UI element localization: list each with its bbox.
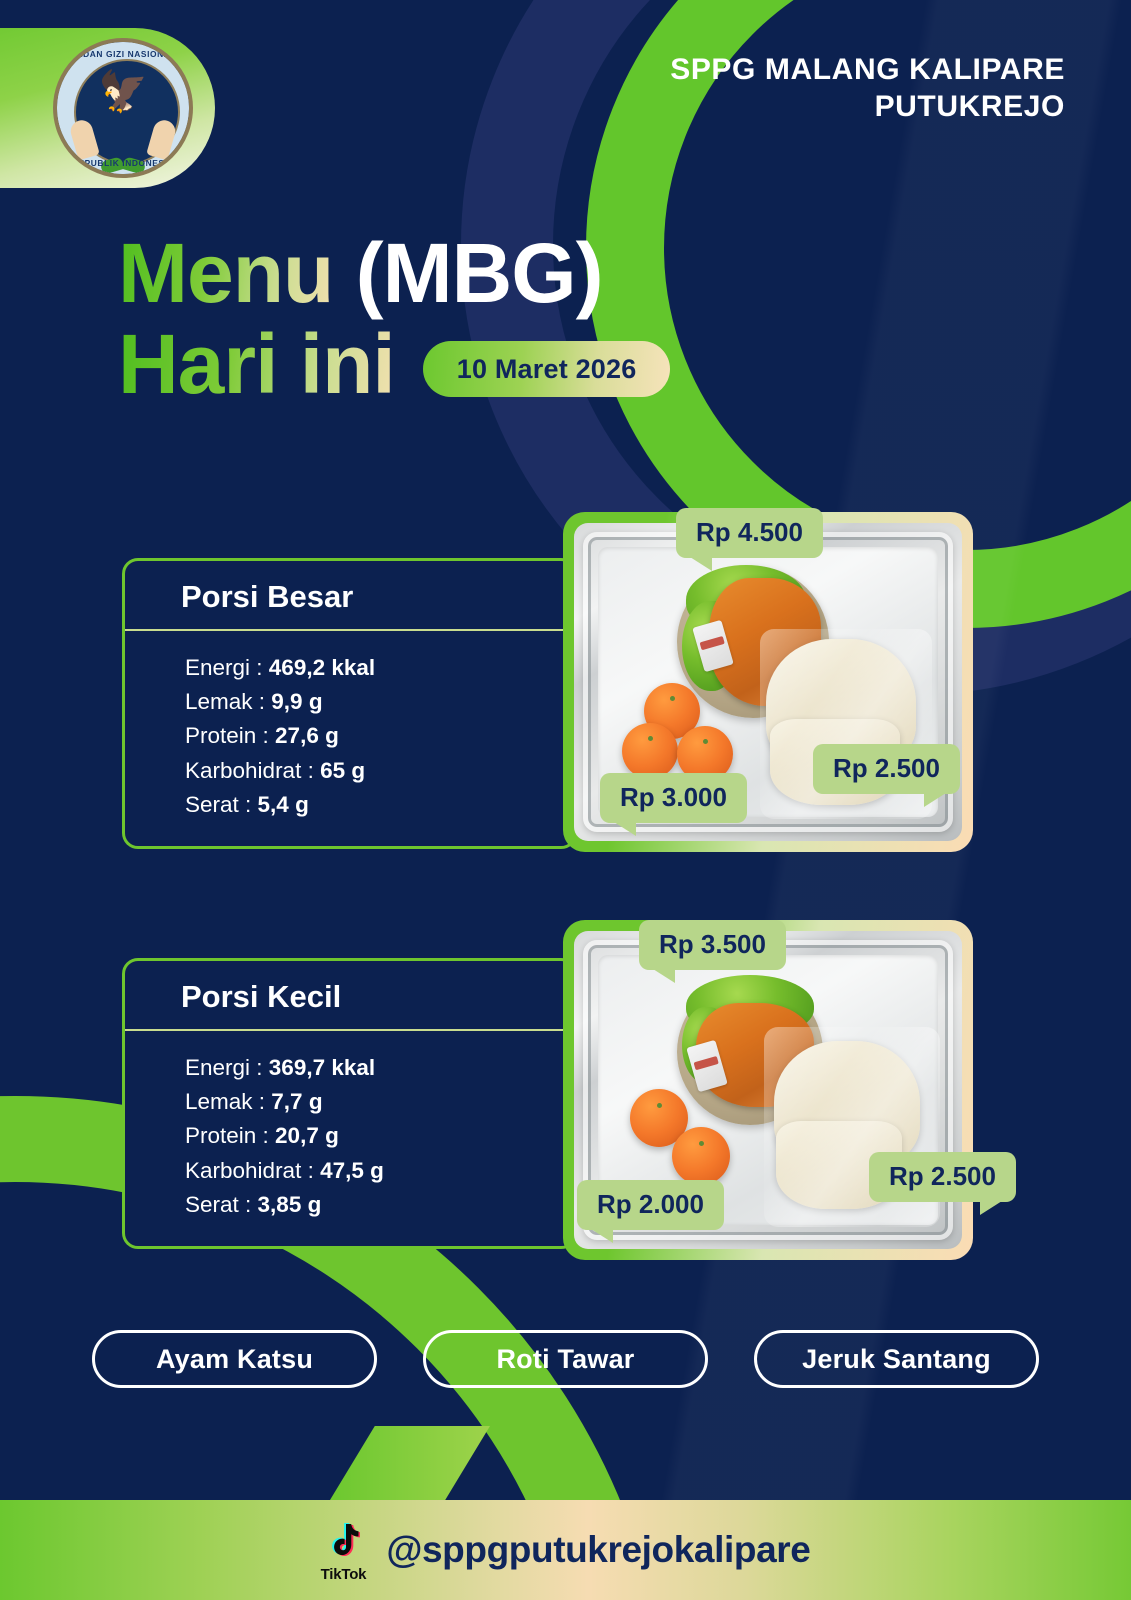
nutrition-row: Energi : 469,2 kkal bbox=[185, 651, 574, 685]
orange-fruit bbox=[622, 723, 678, 779]
price-tag-bread-kecil: Rp 2.500 bbox=[869, 1152, 1016, 1202]
nutrition-label: Energi : bbox=[185, 1055, 269, 1080]
nutrition-label: Serat : bbox=[185, 792, 258, 817]
nutrition-value: 469,2 kkal bbox=[269, 655, 375, 680]
nutrition-row: Protein : 20,7 g bbox=[185, 1119, 574, 1153]
nutrition-row: Karbohidrat : 65 g bbox=[185, 754, 574, 788]
nutrition-label: Protein : bbox=[185, 723, 275, 748]
badan-gizi-nasional-logo: BADAN GIZI NASIONAL REPUBLIK INDONESIA 🦅 bbox=[53, 38, 193, 178]
nutrition-value: 9,9 g bbox=[271, 689, 322, 714]
menu-pill-jeruk-santang[interactable]: Jeruk Santang bbox=[754, 1330, 1039, 1388]
nutrition-list-kecil: Energi : 369,7 kkal Lemak : 7,7 g Protei… bbox=[125, 1031, 574, 1246]
date-badge: 10 Maret 2026 bbox=[423, 341, 671, 397]
nutrition-value: 65 g bbox=[320, 758, 365, 783]
title-mbg-word: (MBG) bbox=[356, 226, 603, 320]
title-line-1: Menu (MBG) bbox=[118, 228, 670, 319]
nutrition-value: 47,5 g bbox=[320, 1158, 384, 1183]
org-line-2: PUTUKREJO bbox=[670, 89, 1065, 126]
price-tag-bread-besar: Rp 2.500 bbox=[813, 744, 960, 794]
tiktok-wordmark: TikTok bbox=[321, 1566, 367, 1583]
menu-pill-ayam-katsu[interactable]: Ayam Katsu bbox=[92, 1330, 377, 1388]
title-line-2-row: Hari ini 10 Maret 2026 bbox=[118, 319, 670, 410]
title-hari-ini: Hari ini bbox=[118, 319, 395, 410]
nutrition-list-besar: Energi : 469,2 kkal Lemak : 9,9 g Protei… bbox=[125, 631, 574, 846]
nutrition-label: Karbohidrat : bbox=[185, 1158, 320, 1183]
nutrition-value: 5,4 g bbox=[258, 792, 309, 817]
nutrition-value: 3,85 g bbox=[258, 1192, 322, 1217]
nutrition-label: Lemak : bbox=[185, 1089, 271, 1114]
nutrition-value: 369,7 kkal bbox=[269, 1055, 375, 1080]
portion-title-kecil: Porsi Kecil bbox=[125, 961, 574, 1031]
price-tag-main-besar: Rp 4.500 bbox=[676, 508, 823, 558]
social-footer: TikTok @sppgputukrejokalipare bbox=[0, 1500, 1131, 1600]
menu-pill-roti-tawar[interactable]: Roti Tawar bbox=[423, 1330, 708, 1388]
nutrition-value: 27,6 g bbox=[275, 723, 339, 748]
nutrition-row: Karbohidrat : 47,5 g bbox=[185, 1154, 574, 1188]
tiktok-note-icon bbox=[326, 1522, 360, 1564]
page-title: Menu (MBG) Hari ini 10 Maret 2026 bbox=[118, 228, 670, 409]
portion-title-besar: Porsi Besar bbox=[125, 561, 574, 631]
portion-card-kecil: Porsi Kecil Energi : 369,7 kkal Lemak : … bbox=[122, 958, 577, 1249]
nutrition-label: Lemak : bbox=[185, 689, 271, 714]
nutrition-row: Protein : 27,6 g bbox=[185, 719, 574, 753]
orange-fruit bbox=[672, 1127, 730, 1185]
organization-logo-badge: BADAN GIZI NASIONAL REPUBLIK INDONESIA 🦅 bbox=[0, 28, 215, 188]
price-tag-fruit-besar: Rp 3.000 bbox=[600, 773, 747, 823]
nutrition-label: Serat : bbox=[185, 1192, 258, 1217]
nutrition-row: Lemak : 9,9 g bbox=[185, 685, 574, 719]
nutrition-row: Lemak : 7,7 g bbox=[185, 1085, 574, 1119]
nutrition-value: 7,7 g bbox=[271, 1089, 322, 1114]
nutrition-label: Protein : bbox=[185, 1123, 275, 1148]
org-line-1: SPPG MALANG KALIPARE bbox=[670, 52, 1065, 89]
poster-canvas: BADAN GIZI NASIONAL REPUBLIK INDONESIA 🦅… bbox=[0, 0, 1131, 1600]
nutrition-value: 20,7 g bbox=[275, 1123, 339, 1148]
nutrition-row: Serat : 3,85 g bbox=[185, 1188, 574, 1222]
nutrition-row: Serat : 5,4 g bbox=[185, 788, 574, 822]
nutrition-label: Karbohidrat : bbox=[185, 758, 320, 783]
price-tag-fruit-kecil: Rp 2.000 bbox=[577, 1180, 724, 1230]
garuda-emblem-icon: 🦅 bbox=[57, 72, 189, 112]
nutrition-row: Energi : 369,7 kkal bbox=[185, 1051, 574, 1085]
title-menu-word: Menu bbox=[118, 226, 333, 320]
menu-item-list: Ayam Katsu Roti Tawar Jeruk Santang bbox=[0, 1330, 1131, 1388]
organization-title: SPPG MALANG KALIPARE PUTUKREJO bbox=[670, 52, 1065, 125]
social-handle[interactable]: @sppgputukrejokalipare bbox=[386, 1529, 810, 1571]
logo-bottom-arc-text: REPUBLIK INDONESIA bbox=[57, 158, 189, 168]
portion-card-besar: Porsi Besar Energi : 469,2 kkal Lemak : … bbox=[122, 558, 577, 849]
tiktok-logo: TikTok bbox=[321, 1522, 367, 1583]
price-tag-main-kecil: Rp 3.500 bbox=[639, 920, 786, 970]
nutrition-label: Energi : bbox=[185, 655, 269, 680]
logo-top-arc-text: BADAN GIZI NASIONAL bbox=[57, 49, 189, 59]
